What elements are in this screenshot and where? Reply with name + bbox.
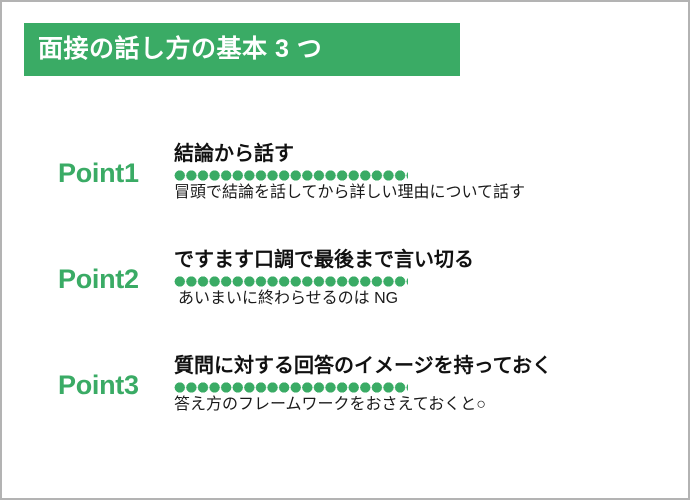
page-title: 面接の話し方の基本 3 つ xyxy=(38,37,322,62)
point-label-3: Point3 xyxy=(58,372,174,399)
point-label-2: Point2 xyxy=(58,266,174,293)
dotted-divider-icon xyxy=(174,170,408,181)
dotted-divider-icon xyxy=(174,276,408,287)
point-description-1: 冒頭で結論を話してから詳しい理由について話す xyxy=(174,183,690,204)
point-heading-1: 結論から話す xyxy=(174,142,690,167)
point-description-2: あいまいに終わらせるのは NG xyxy=(174,289,690,310)
point-body-3: 質問に対する回答のイメージを持っておく 答え方のフレームワークをおさえておくと○ xyxy=(174,354,690,416)
point-heading-2: ですます口調で最後まで言い切る xyxy=(174,248,690,273)
point-row: Point2 ですます口調で最後まで言い切る あいまいに終わらせるのは NG xyxy=(2,226,690,332)
slide-canvas: 面接の話し方の基本 3 つ Point1 結論から話す 冒頭で結論を話してから詳… xyxy=(0,0,690,500)
point-heading-3: 質問に対する回答のイメージを持っておく xyxy=(174,354,690,379)
title-banner: 面接の話し方の基本 3 つ xyxy=(24,23,460,76)
point-row: Point1 結論から話す 冒頭で結論を話してから詳しい理由について話す xyxy=(2,120,690,226)
points-list: Point1 結論から話す 冒頭で結論を話してから詳しい理由について話す Poi… xyxy=(2,120,690,438)
point-body-2: ですます口調で最後まで言い切る あいまいに終わらせるのは NG xyxy=(174,248,690,310)
point-row: Point3 質問に対する回答のイメージを持っておく 答え方のフレームワークをお… xyxy=(2,332,690,438)
point-label-1: Point1 xyxy=(58,160,174,187)
point-description-3: 答え方のフレームワークをおさえておくと○ xyxy=(174,395,690,416)
point-body-1: 結論から話す 冒頭で結論を話してから詳しい理由について話す xyxy=(174,142,690,204)
dotted-divider-icon xyxy=(174,382,408,393)
